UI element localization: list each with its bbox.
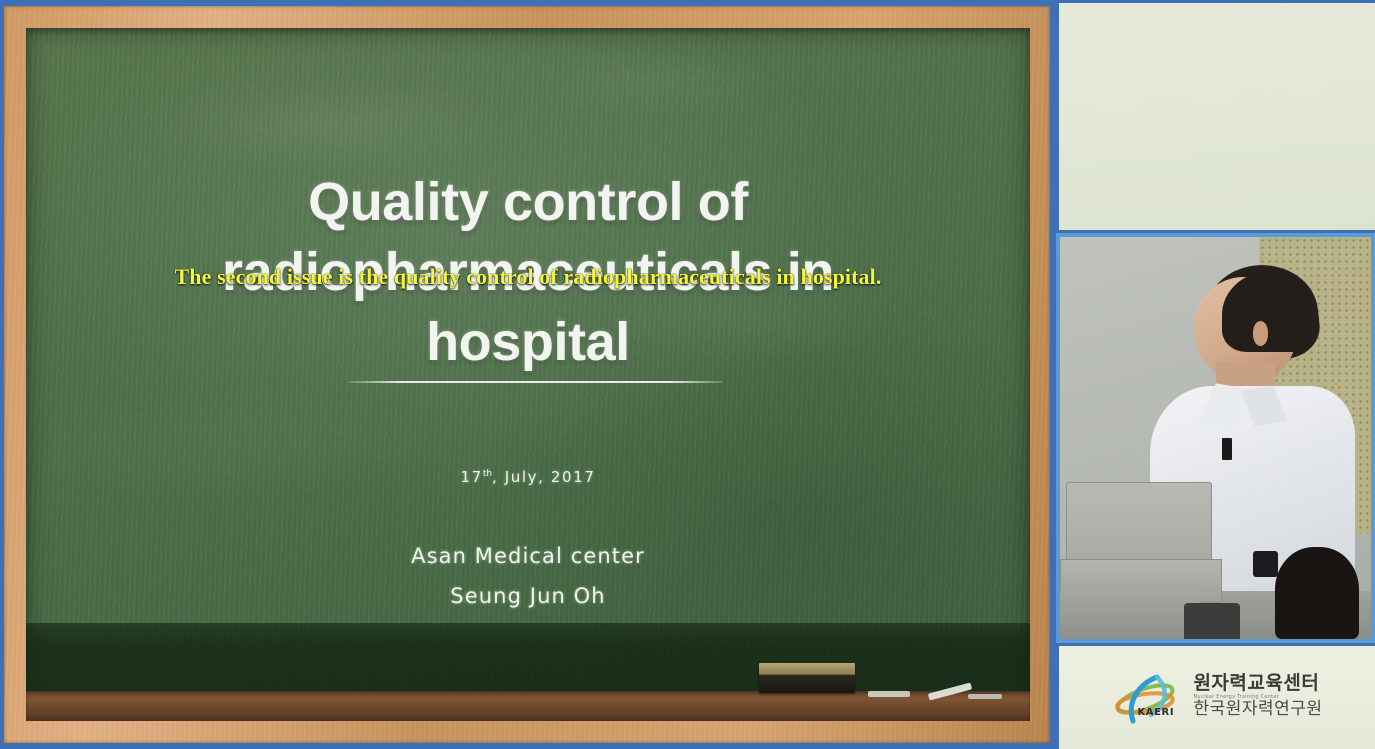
desk-object (1184, 603, 1240, 639)
chalkboard-eraser-icon (759, 663, 855, 693)
slide-date: 17th, July, 2017 (26, 468, 1030, 486)
organization-name-korean-primary: 원자력교육센터 (1193, 674, 1322, 694)
title-underline (348, 381, 722, 383)
laptop-screen (1066, 482, 1212, 562)
slide-organization: Asan Medical center (26, 544, 1030, 568)
chalk-stick-icon (968, 694, 1002, 699)
slide-date-day: 17 (461, 468, 483, 486)
slide-title-line-3-text: hospital (426, 312, 630, 372)
chalkboard-surface: Quality control of radiopharmaceuticals … (26, 28, 1030, 721)
empty-content-panel[interactable] (1056, 0, 1375, 233)
slide-pane[interactable]: Quality control of radiopharmaceuticals … (0, 0, 1056, 749)
slide-date-rest: , July, 2017 (492, 468, 595, 486)
wristwatch-icon (1253, 551, 1278, 577)
chalk-stick-icon (868, 691, 910, 697)
lecture-recording-viewport: Quality control of radiopharmaceuticals … (0, 0, 1375, 749)
slide-title-line-3-wrap: hospital (96, 307, 959, 381)
presenter-video-feed[interactable] (1056, 233, 1375, 643)
presenter-ear (1253, 321, 1269, 345)
audience-head (1275, 547, 1359, 639)
slide-content: Quality control of radiopharmaceuticals … (26, 28, 1030, 721)
organization-logo-panel: KAERI 원자력교육센터 Nuclear Energy Training Ce… (1056, 643, 1375, 749)
slide-date-ordinal: th (483, 469, 492, 479)
subtitle-caption: The second issue is the quality control … (26, 264, 1030, 290)
kaeri-atom-icon: KAERI (1111, 669, 1183, 727)
slide-author: Seung Jun Oh (26, 584, 1030, 608)
organization-name-block: 원자력교육센터 Nuclear Energy Training Center 한… (1193, 674, 1322, 721)
lapel-microphone-icon (1222, 438, 1233, 460)
organization-name-korean-secondary: 한국원자력연구원 (1193, 701, 1322, 719)
slide-title-line-3: hospital (426, 307, 630, 381)
empty-content-panel-surface (1059, 3, 1375, 230)
laptop-keyboard-deck (1060, 591, 1200, 639)
organization-logo: KAERI 원자력교육센터 Nuclear Energy Training Ce… (1059, 646, 1375, 749)
slide-title-line-1: Quality control of (96, 167, 959, 237)
kaeri-wordmark: KAERI (1137, 707, 1174, 718)
chalkboard-wooden-frame: Quality control of radiopharmaceuticals … (4, 6, 1050, 743)
presenter-video-frame (1060, 237, 1371, 639)
right-sidebar: KAERI 원자력교육센터 Nuclear Energy Training Ce… (1056, 0, 1375, 749)
